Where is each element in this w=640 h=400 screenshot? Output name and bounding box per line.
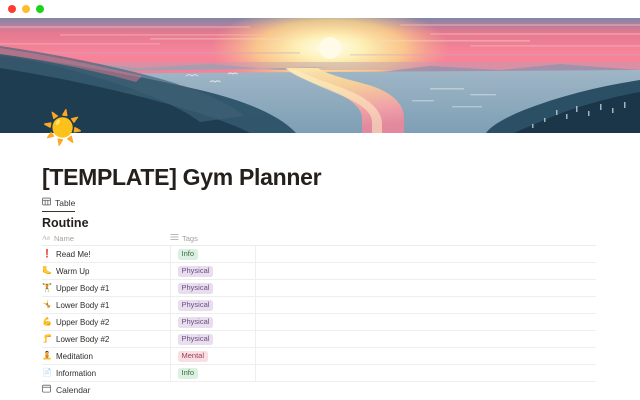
tag-chip: Physical <box>178 334 213 345</box>
text-type-icon: Aa <box>42 233 51 243</box>
table-row[interactable]: 💪Upper Body #2Physical <box>42 314 596 331</box>
cell-name-label: Warm Up <box>56 267 89 276</box>
column-header-name[interactable]: Aa Name <box>42 231 170 245</box>
tag-chip: Physical <box>178 317 213 328</box>
cell-name[interactable]: 🤸Lower Body #1 <box>42 297 170 313</box>
table-row[interactable]: 🧘MeditationMental <box>42 348 596 365</box>
cell-tags[interactable]: Physical <box>170 314 255 330</box>
page-title[interactable]: [TEMPLATE] Gym Planner <box>42 164 321 191</box>
cell-name-label: Information <box>56 369 96 378</box>
cell-name-label: Lower Body #2 <box>56 335 109 344</box>
column-header-name-label: Name <box>54 234 74 243</box>
column-header-tags[interactable]: Tags <box>170 231 255 245</box>
window-titlebar <box>0 0 640 18</box>
row-emoji-icon: 📄 <box>42 368 52 378</box>
cell-blank[interactable] <box>255 246 596 262</box>
table-icon <box>42 197 51 208</box>
cell-blank[interactable] <box>255 297 596 313</box>
table-row[interactable]: ❗Read Me!Info <box>42 246 596 263</box>
row-emoji-icon: 🧘 <box>42 351 52 361</box>
cell-blank[interactable] <box>255 314 596 330</box>
row-emoji-icon: 🦶 <box>42 266 52 276</box>
page-content: [TEMPLATE] Gym Planner Table Routine <box>0 133 640 400</box>
table-body: ❗Read Me!Info🦶Warm UpPhysical🏋️Upper Bod… <box>42 246 596 382</box>
window-minimize-button[interactable] <box>22 5 30 13</box>
cell-name[interactable]: 🧘Meditation <box>42 348 170 364</box>
banner-artwork <box>0 18 640 133</box>
cell-name-label: Read Me! <box>56 250 91 259</box>
cell-name-label: Upper Body #2 <box>56 318 109 327</box>
column-header-blank[interactable] <box>255 231 596 245</box>
calendar-block-label: Calendar <box>56 385 91 395</box>
table-row[interactable]: 🤸Lower Body #1Physical <box>42 297 596 314</box>
cell-name[interactable]: 🦶Warm Up <box>42 263 170 279</box>
app-window: ☀️ [TEMPLATE] Gym Planner Table Routine <box>0 0 640 400</box>
row-emoji-icon: ❗ <box>42 249 52 259</box>
cell-tags[interactable]: Physical <box>170 331 255 347</box>
cell-name-label: Lower Body #1 <box>56 301 109 310</box>
cell-blank[interactable] <box>255 365 596 381</box>
multi-select-icon <box>170 233 179 243</box>
cell-tags[interactable]: Physical <box>170 297 255 313</box>
row-emoji-icon: 🤸 <box>42 300 52 310</box>
tab-table[interactable]: Table <box>42 197 75 212</box>
row-emoji-icon: 🦵 <box>42 334 52 344</box>
cell-name[interactable]: 📄Information <box>42 365 170 381</box>
routine-table: Aa Name T <box>42 231 596 382</box>
tag-chip: Physical <box>178 300 213 311</box>
row-emoji-icon: 💪 <box>42 317 52 327</box>
calendar-block-link[interactable]: Calendar <box>42 384 91 395</box>
tag-chip: Physical <box>178 283 213 294</box>
svg-text:Aa: Aa <box>42 234 50 241</box>
cell-name-label: Meditation <box>56 352 93 361</box>
cell-name[interactable]: 🦵Lower Body #2 <box>42 331 170 347</box>
calendar-icon <box>42 384 51 395</box>
sun-emoji-page-icon[interactable]: ☀️ <box>42 108 82 148</box>
cell-tags[interactable]: Info <box>170 246 255 262</box>
tag-chip: Info <box>178 249 198 260</box>
row-emoji-icon: 🏋️ <box>42 283 52 293</box>
cell-blank[interactable] <box>255 263 596 279</box>
cell-blank[interactable] <box>255 280 596 296</box>
cell-blank[interactable] <box>255 331 596 347</box>
table-header-row: Aa Name T <box>42 231 596 246</box>
cell-tags[interactable]: Info <box>170 365 255 381</box>
column-header-tags-label: Tags <box>182 234 198 243</box>
database-title[interactable]: Routine <box>42 216 89 230</box>
cell-tags[interactable]: Mental <box>170 348 255 364</box>
cell-name[interactable]: 🏋️Upper Body #1 <box>42 280 170 296</box>
cell-blank[interactable] <box>255 348 596 364</box>
table-row[interactable]: 🦵Lower Body #2Physical <box>42 331 596 348</box>
tag-chip: Info <box>178 368 198 379</box>
table-row[interactable]: 📄InformationInfo <box>42 365 596 382</box>
cell-name[interactable]: ❗Read Me! <box>42 246 170 262</box>
table-row[interactable]: 🏋️Upper Body #1Physical <box>42 280 596 297</box>
cell-tags[interactable]: Physical <box>170 280 255 296</box>
table-row[interactable]: 🦶Warm UpPhysical <box>42 263 596 280</box>
window-close-button[interactable] <box>8 5 16 13</box>
tag-chip: Physical <box>178 266 213 277</box>
database-view-tabs: Table <box>42 196 75 212</box>
tag-chip: Mental <box>178 351 208 362</box>
cell-name-label: Upper Body #1 <box>56 284 109 293</box>
cell-name[interactable]: 💪Upper Body #2 <box>42 314 170 330</box>
cell-tags[interactable]: Physical <box>170 263 255 279</box>
page-cover-banner[interactable] <box>0 18 640 133</box>
window-maximize-button[interactable] <box>36 5 44 13</box>
tab-table-label: Table <box>55 198 75 208</box>
